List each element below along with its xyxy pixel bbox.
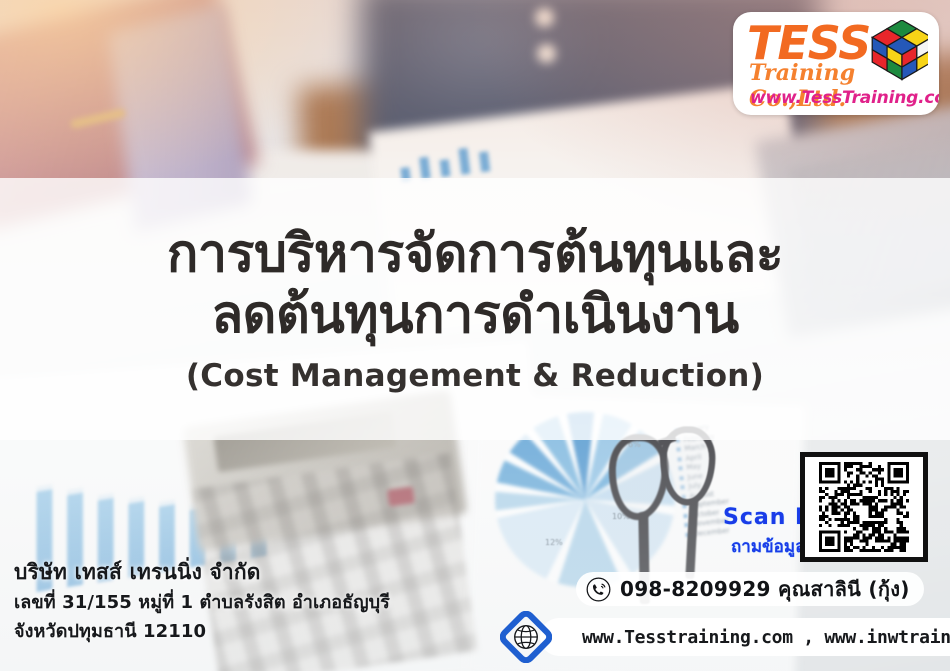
website-bar[interactable]: www.Tesstraining.com , www.inwtraining.c… xyxy=(540,618,950,656)
address-line-2: เลขที่ 31/155 หมู่ที่ 1 ตำบลรังสิต อำเภอ… xyxy=(14,588,444,617)
pie-label: 12% xyxy=(545,538,563,547)
title-block: การบริหารจัดการต้นทุนและ ลดต้นทุนการดำเน… xyxy=(0,178,950,440)
rubiks-cube-icon xyxy=(866,20,928,82)
logo-url: www.TessTraining.com xyxy=(750,88,939,108)
page-title-line-2: ลดต้นทุนการดำเนินงาน xyxy=(211,285,738,346)
qr-code[interactable] xyxy=(800,452,928,562)
tess-logo[interactable]: TESS Training Co.,Ltd. www.TessTraining.… xyxy=(733,12,939,115)
scan-line-sublabel: ถามข้อมูล xyxy=(731,533,806,560)
page-title-line-1: การบริหารจัดการต้นทุนและ xyxy=(167,224,783,285)
website-urls: www.Tesstraining.com , www.inwtraining.c… xyxy=(582,627,950,648)
company-address: บริษัท เทสส์ เทรนนิ่ง จำกัด เลขที่ 31/15… xyxy=(14,556,444,646)
phone-number: 098-8209929 คุณสาลินี (กุ้ง) xyxy=(620,573,910,605)
globe-icon xyxy=(500,611,552,663)
shirt-button xyxy=(535,8,554,27)
company-name: บริษัท เทสส์ เทรนนิ่ง จำกัด xyxy=(14,556,444,588)
address-line-3: จังหวัดปทุมธานี 12110 xyxy=(14,617,444,646)
phone-contact[interactable]: 098-8209929 คุณสาลินี (กุ้ง) xyxy=(576,572,924,606)
qr-code-image xyxy=(810,462,918,552)
shirt-button xyxy=(537,44,556,63)
poster-canvas: 12% 10% 6% January February March April … xyxy=(0,0,950,671)
phone-icon xyxy=(586,577,611,602)
page-subtitle: (Cost Management & Reduction) xyxy=(186,358,764,394)
calculator-key-red xyxy=(387,486,415,506)
